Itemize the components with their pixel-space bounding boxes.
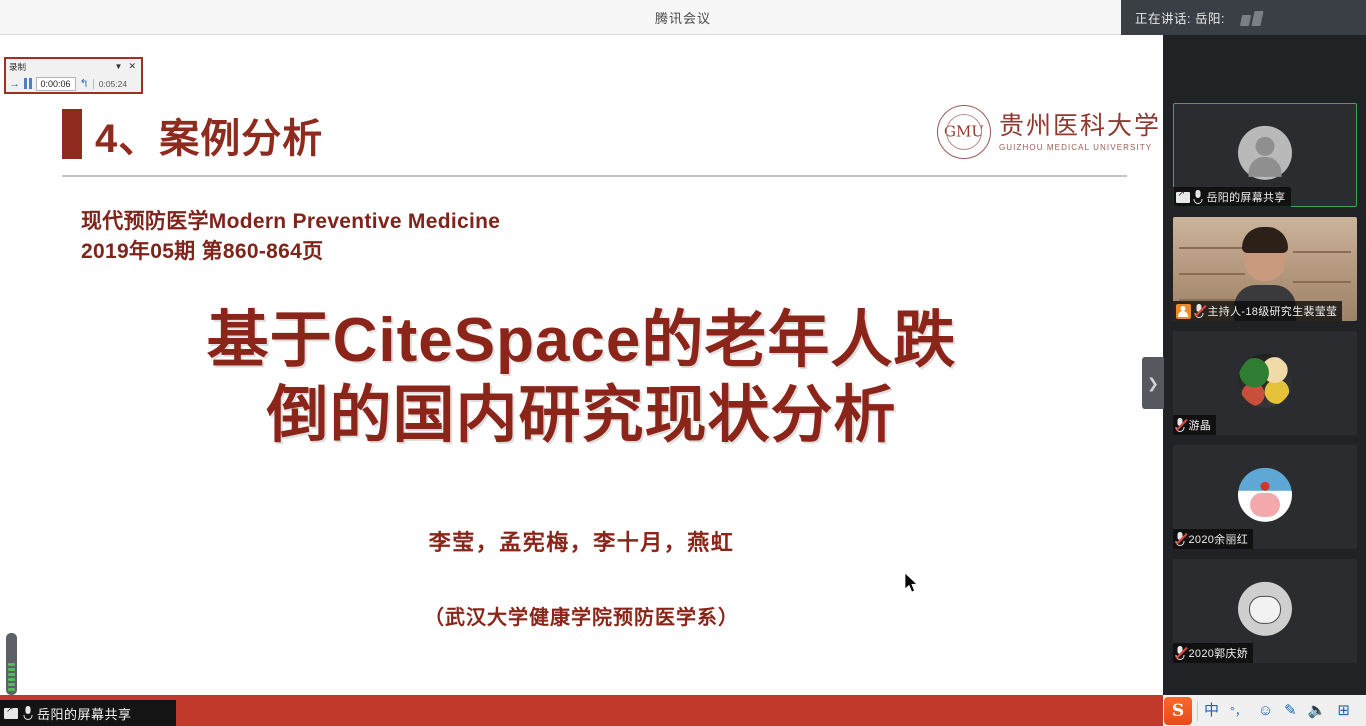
participant-name-bar: 2020郭庆娇 [1173, 643, 1254, 663]
university-logo-text: 贵州医科大学 GUIZHOU MEDICAL UNIVERSITY [999, 112, 1161, 152]
app-title: 腾讯会议 [655, 8, 711, 27]
microphone-muted-icon [1176, 646, 1185, 660]
participant-name: 2020余丽红 [1189, 531, 1249, 547]
active-speaker-label: 正在讲话: 岳阳: [1135, 8, 1225, 27]
participant-name: 2020郭庆娇 [1189, 645, 1249, 661]
recording-label: 录制 [9, 61, 115, 73]
shared-screen-area: 4、案例分析 GMU 贵州医科大学 GUIZHOU MEDICAL UNIVER… [0, 35, 1163, 695]
close-icon[interactable]: ✕ [128, 61, 136, 72]
screen-share-icon [4, 708, 18, 719]
recording-toolbar[interactable]: 录制 ▼ ✕ → 0:00:06 ↰ 0:05:24 [4, 57, 143, 94]
recording-toolbar-controls: → 0:00:06 ↰ 0:05:24 [6, 74, 141, 93]
microphone-muted-icon [1195, 304, 1204, 318]
participant-name-bar: 主持人-18级研究生裴莹莹 [1173, 301, 1343, 321]
chevron-down-icon[interactable]: ▼ [115, 62, 123, 71]
slide-section-title: 4、案例分析 [95, 106, 323, 164]
pen-icon[interactable]: ✎ [1284, 703, 1297, 718]
participant-name-bar: 2020余丽红 [1173, 529, 1254, 549]
paper-title: 基于CiteSpace的老年人跌 倒的国内研究现状分析 [7, 303, 1156, 453]
keyboard-panel-icon[interactable]: ⊞ [1337, 703, 1350, 718]
participant-name: 游晶 [1189, 417, 1212, 433]
active-speaker-indicator: 正在讲话: 岳阳: [1121, 0, 1366, 35]
voice-input-icon[interactable]: 🔈 [1308, 703, 1327, 718]
participant-tile[interactable]: 2020余丽红 [1173, 445, 1357, 549]
journal-issue: 2019年05期 第860-864页 [81, 237, 500, 267]
host-badge-icon [1176, 304, 1191, 319]
participant-tile[interactable]: 游晶 [1173, 331, 1357, 435]
participant-name-bar: 岳阳的屏幕共享 [1173, 187, 1291, 207]
avatar [1238, 582, 1292, 636]
microphone-level-meter [6, 633, 17, 695]
paper-title-line-1: 基于CiteSpace的老年人跌 [7, 303, 1156, 378]
avatar [1238, 354, 1292, 408]
microphone-muted-icon [1176, 532, 1185, 546]
participant-name: 岳阳的屏幕共享 [1207, 189, 1286, 205]
mouse-cursor [905, 573, 919, 594]
recording-elapsed-time: 0:00:06 [36, 77, 76, 91]
microphone-icon [23, 706, 32, 720]
emoji-icon[interactable]: ☺ [1258, 703, 1273, 718]
microphone-muted-icon [1176, 418, 1185, 432]
ime-language-mode[interactable]: 中 [1204, 703, 1219, 718]
avatar [1238, 468, 1292, 522]
share-status-label: 岳阳的屏幕共享 [37, 704, 132, 723]
paper-authors: 李莹，孟宪梅，李十月，燕虹 [7, 525, 1156, 557]
chevron-right-icon: ❯ [1147, 375, 1159, 392]
ime-punctuation-toggle[interactable]: °， [1230, 705, 1247, 717]
journal-info: 现代预防医学Modern Preventive Medicine 2019年05… [81, 207, 500, 267]
participant-name: 主持人-18级研究生裴莹莹 [1208, 303, 1338, 319]
collapse-panel-button[interactable]: ❯ [1142, 357, 1164, 409]
sogou-ime-logo-icon[interactable]: S [1164, 697, 1192, 725]
audio-wave-icon [1241, 10, 1262, 26]
university-logo: GMU 贵州医科大学 GUIZHOU MEDICAL UNIVERSITY [937, 105, 1161, 159]
undo-icon[interactable]: ↰ [80, 77, 89, 90]
participant-tile[interactable]: 岳阳的屏幕共享 [1173, 103, 1357, 207]
slide-header: 4、案例分析 GMU 贵州医科大学 GUIZHOU MEDICAL UNIVER… [7, 97, 1156, 179]
screen-share-icon [1176, 192, 1190, 203]
microphone-icon [1194, 190, 1203, 204]
pause-icon[interactable] [24, 78, 32, 89]
paper-affiliation: （武汉大学健康学院预防医学系） [7, 601, 1156, 630]
participant-tile[interactable]: 2020郭庆娇 [1173, 559, 1357, 663]
recording-toolbar-header: 录制 ▼ ✕ [6, 59, 141, 74]
title-accent-bar [62, 109, 82, 159]
seal-mark-text: GMU [944, 125, 984, 140]
participant-tile[interactable]: 主持人-18级研究生裴莹莹 [1173, 217, 1357, 321]
university-name-cn: 贵州医科大学 [999, 112, 1161, 140]
paper-title-line-2: 倒的国内研究现状分析 [7, 378, 1156, 453]
avatar [1238, 126, 1292, 180]
next-arrow-icon[interactable]: → [9, 78, 20, 90]
tray-divider [1197, 701, 1198, 721]
journal-name: 现代预防医学Modern Preventive Medicine [81, 207, 500, 237]
participants-rail[interactable]: 岳阳的屏幕共享 主持人-18级研究生裴莹莹 游晶 [1163, 35, 1366, 695]
university-name-en: GUIZHOU MEDICAL UNIVERSITY [999, 143, 1161, 152]
university-seal-icon: GMU [937, 105, 991, 159]
recording-total-time: 0:05:24 [93, 79, 127, 89]
presentation-slide: 4、案例分析 GMU 贵州医科大学 GUIZHOU MEDICAL UNIVER… [7, 35, 1156, 695]
header-divider [62, 175, 1127, 177]
participant-name-bar: 游晶 [1173, 415, 1217, 435]
system-tray[interactable]: S 中 °， ☺ ✎ 🔈 ⊞ [1163, 695, 1366, 726]
screen-root: 腾讯会议 正在讲话: 岳阳: 4、案例分析 GMU 贵州医科大学 GUIZHOU… [0, 0, 1366, 726]
share-status-bar[interactable]: 岳阳的屏幕共享 [0, 700, 176, 726]
